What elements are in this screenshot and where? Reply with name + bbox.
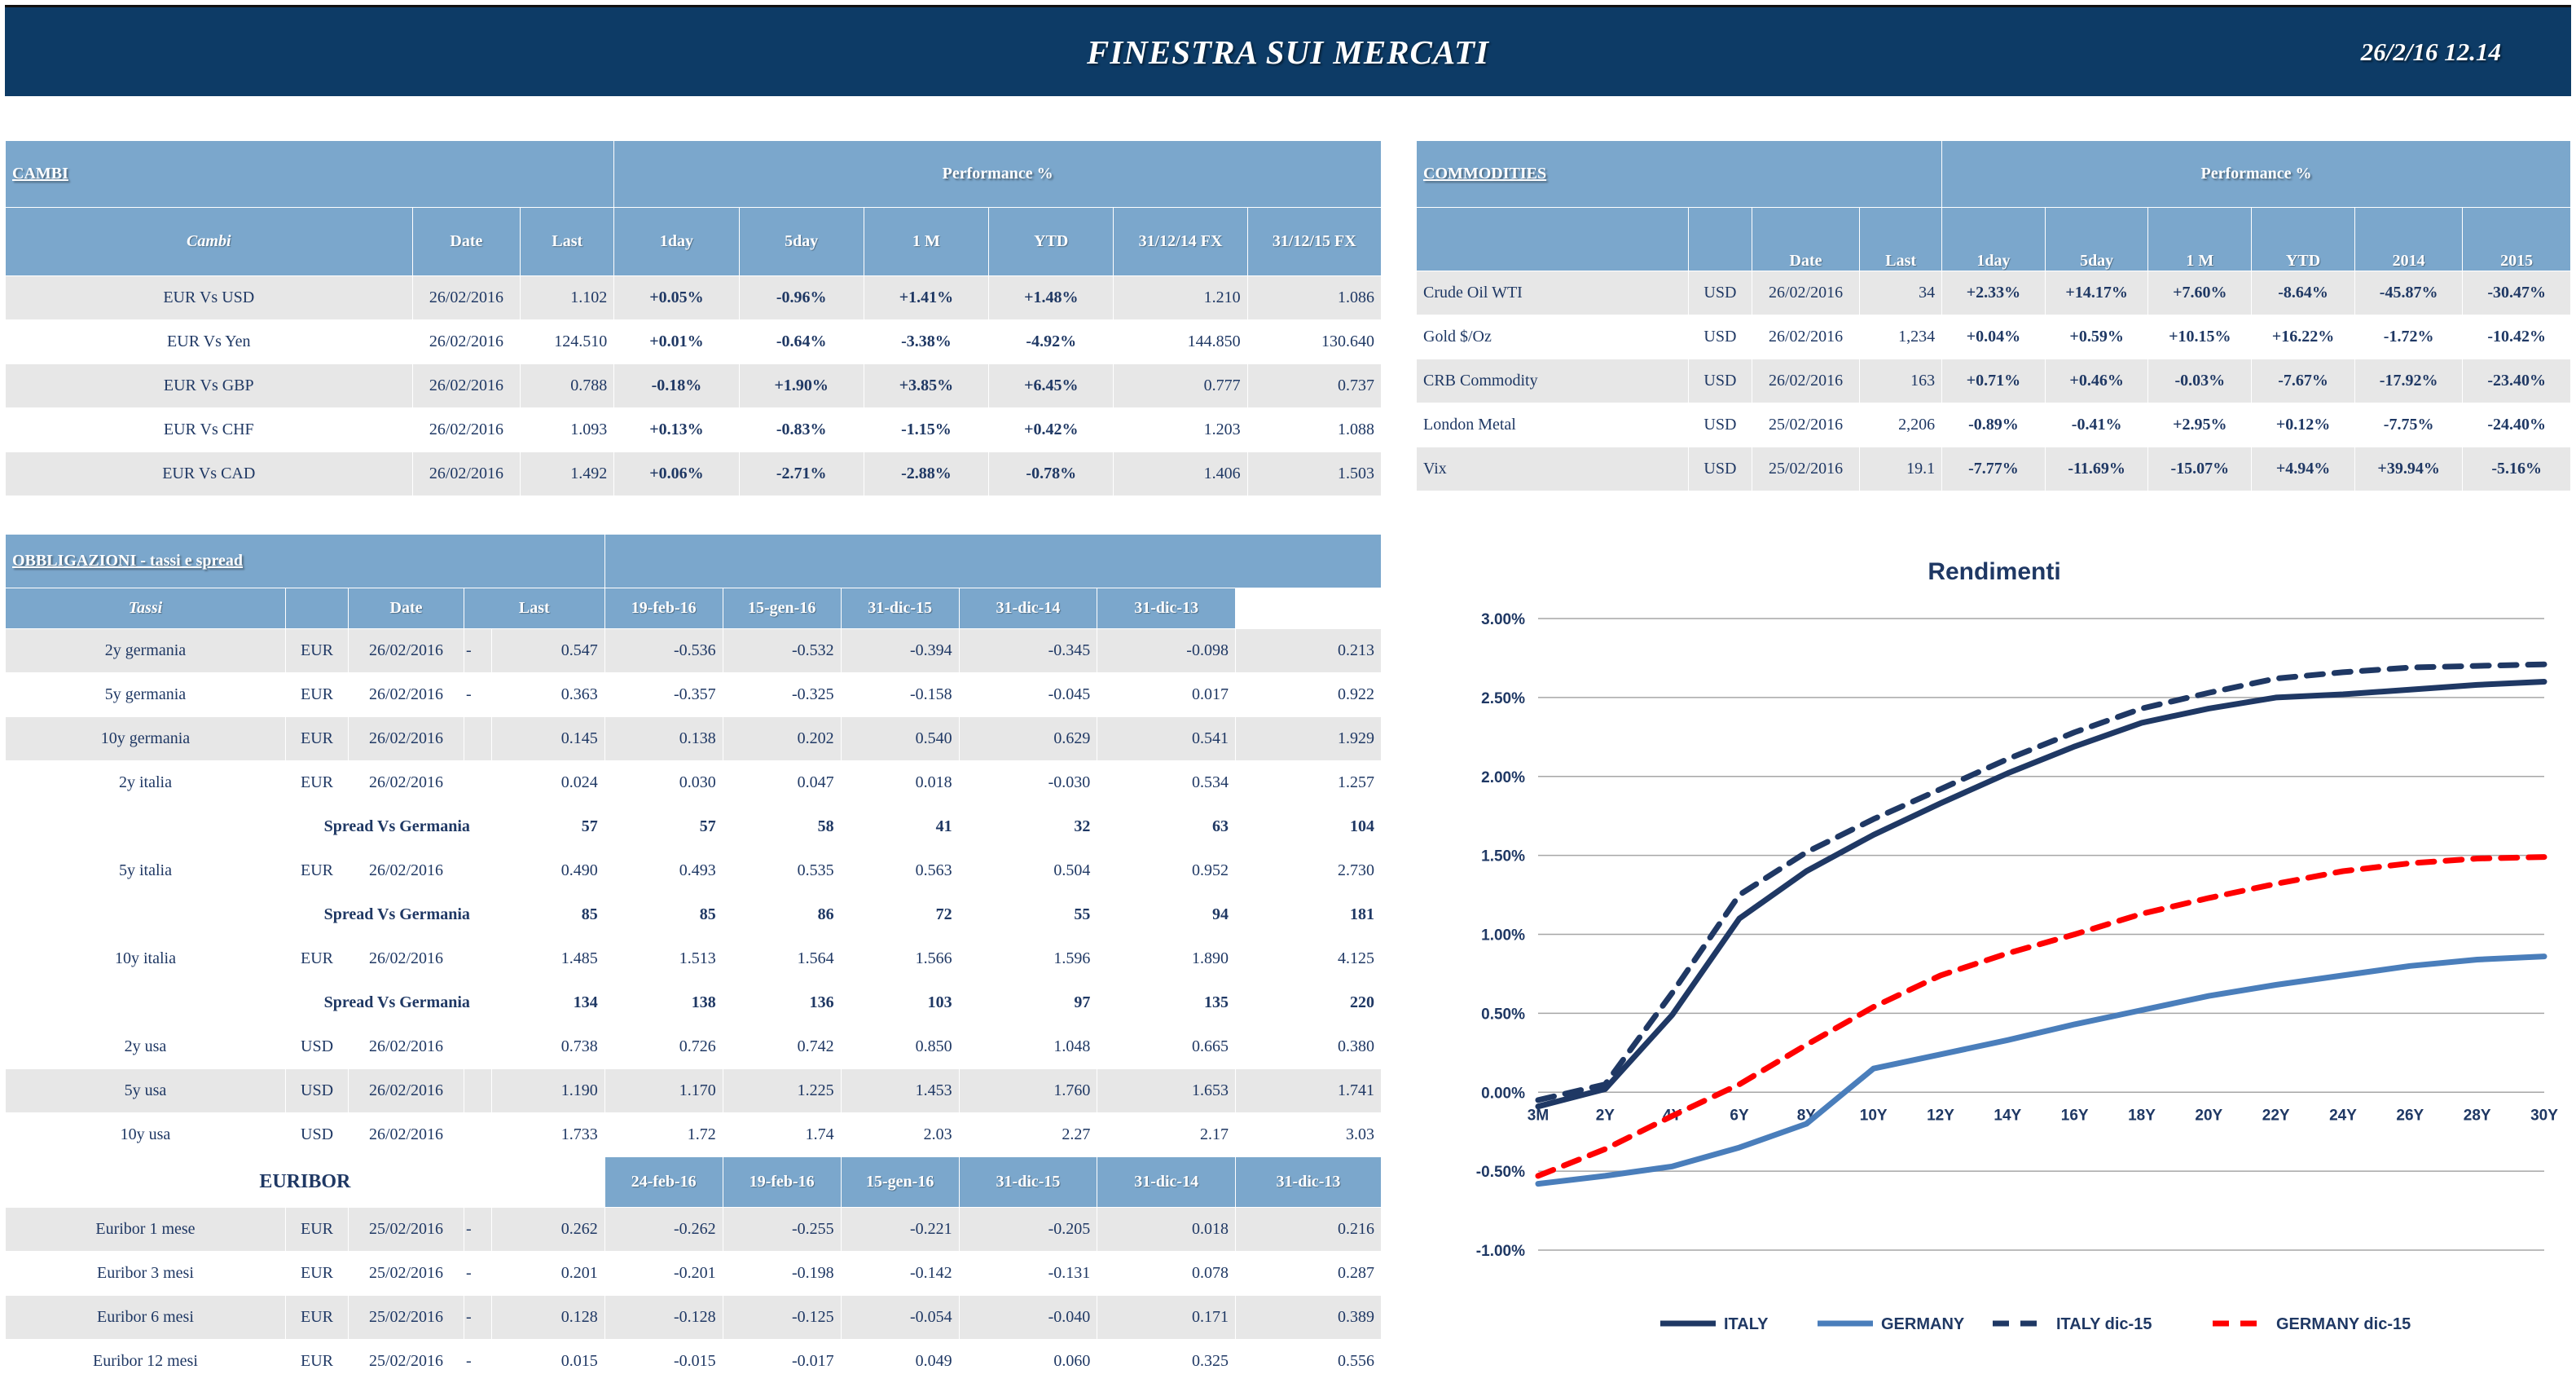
cambi-date: 26/02/2016 <box>412 276 521 320</box>
bond-hist-value: 0.047 <box>723 761 841 805</box>
commodity-perf-cell: -1.72% <box>2354 315 2462 359</box>
cambi-fx-2014: 144.850 <box>1114 320 1247 364</box>
bond-hist-value: -0.532 <box>723 629 841 673</box>
series-germany-dic-15 <box>1538 857 2544 1176</box>
cambi-date: 26/02/2016 <box>412 408 521 452</box>
bond-neg-sign <box>464 1025 491 1069</box>
obbligazioni-header-row: TassiDateLast19-feb-1615-gen-1631-dic-15… <box>6 588 1382 629</box>
cambi-col-header: 31/12/14 FX <box>1114 208 1247 276</box>
cambi-col-header: Last <box>521 208 614 276</box>
cambi-perf-cell: -0.64% <box>739 320 864 364</box>
bond-hist-value: 0.534 <box>1097 761 1236 805</box>
euribor-col-header: 31-dic-14 <box>1097 1157 1236 1208</box>
obbligazioni-col-header: 31-dic-13 <box>1097 588 1236 629</box>
bond-last: 1.733 <box>491 1113 604 1157</box>
yield-curve-chart: 3.00%2.50%2.00%1.50%1.00%0.50%0.00%-0.50… <box>1416 586 2573 1368</box>
euribor-date: 25/02/2016 <box>349 1340 464 1384</box>
x-axis-tick-label: 10Y <box>1860 1107 1888 1124</box>
bond-hist-value: -0.345 <box>959 629 1097 673</box>
bond-last: 0.145 <box>491 717 604 761</box>
commodity-date: 25/02/2016 <box>1752 447 1859 491</box>
commodity-name: Gold $/Oz <box>1417 315 1689 359</box>
bond-currency: EUR <box>285 673 348 717</box>
cambi-perf-cell: -2.88% <box>864 452 988 496</box>
cambi-perf-cell: +0.05% <box>614 276 739 320</box>
cambi-pair-name: EUR Vs CHF <box>6 408 413 452</box>
legend-label: GERMANY <box>1881 1315 1965 1333</box>
euribor-hist-value: 0.556 <box>1235 1340 1381 1384</box>
euribor-last: 0.128 <box>491 1296 604 1340</box>
euribor-name: Euribor 3 mesi <box>6 1252 286 1296</box>
bond-hist-value: 1.929 <box>1235 717 1381 761</box>
commodity-currency: USD <box>1689 315 1752 359</box>
euribor-last: 0.015 <box>491 1340 604 1384</box>
euribor-hist-value: 0.060 <box>959 1340 1097 1384</box>
obbligazioni-title: OBBLIGAZIONI - tassi e spread <box>6 535 605 588</box>
commodities-performance-header: Performance % <box>1942 141 2571 208</box>
commodity-perf-cell: +0.12% <box>2252 403 2355 447</box>
y-axis-tick-label: 2.50% <box>1481 690 1525 707</box>
commodities-col-header: YTD <box>2252 208 2355 271</box>
cambi-perf-cell: +0.06% <box>614 452 739 496</box>
commodities-header-row: DateLast1day5day1 MYTD20142015 <box>1417 208 2571 271</box>
table-row: 2y italiaEUR26/02/20160.0240.0300.0470.0… <box>6 761 1382 805</box>
spread-row: Spread Vs Germania13413813610397135220 <box>6 981 1382 1025</box>
bond-hist-value: 0.017 <box>1097 673 1236 717</box>
bond-hist-value: 1.741 <box>1235 1069 1381 1113</box>
bond-name: 2y usa <box>6 1025 286 1069</box>
bond-hist-value: 0.202 <box>723 717 841 761</box>
table-row: 2y germaniaEUR26/02/2016-0.547-0.536-0.5… <box>6 629 1382 673</box>
table-row: 10y germaniaEUR26/02/20160.1450.1380.202… <box>6 717 1382 761</box>
cambi-perf-cell: -0.78% <box>989 452 1114 496</box>
table-row: EUR Vs GBP26/02/20160.788-0.18%+1.90%+3.… <box>6 364 1382 408</box>
euribor-title: EURIBOR <box>6 1157 605 1208</box>
commodity-perf-cell: +0.46% <box>2045 359 2148 403</box>
bond-hist-value: 1.596 <box>959 937 1097 981</box>
x-axis-tick-label: 18Y <box>2128 1107 2156 1124</box>
euribor-hist-value: 0.078 <box>1097 1252 1236 1296</box>
cambi-perf-cell: -0.96% <box>739 276 864 320</box>
commodity-currency: USD <box>1689 271 1752 315</box>
commodity-perf-cell: +0.04% <box>1942 315 2046 359</box>
bond-neg-sign <box>464 849 491 893</box>
euribor-currency: EUR <box>285 1340 348 1384</box>
obbligazioni-col-header: Tassi <box>6 588 286 629</box>
cambi-fx-2014: 1.210 <box>1114 276 1247 320</box>
commodity-perf-cell: -11.69% <box>2045 447 2148 491</box>
cambi-perf-cell: +0.42% <box>989 408 1114 452</box>
spread-value: 220 <box>1235 981 1381 1025</box>
table-row: London MetalUSD25/02/20162,206-0.89%-0.4… <box>1417 403 2571 447</box>
spread-row: Spread Vs Germania858586725594181 <box>6 893 1382 937</box>
cambi-pair-name: EUR Vs Yen <box>6 320 413 364</box>
bond-hist-value: -0.357 <box>604 673 723 717</box>
commodities-col-header: 1 M <box>2148 208 2252 271</box>
commodity-date: 26/02/2016 <box>1752 359 1859 403</box>
obbligazioni-title-row: OBBLIGAZIONI - tassi e spread <box>6 535 1382 588</box>
bond-hist-value: 0.850 <box>841 1025 959 1069</box>
bond-hist-value: 0.380 <box>1235 1025 1381 1069</box>
commodity-date: 26/02/2016 <box>1752 315 1859 359</box>
commodity-perf-cell: -0.41% <box>2045 403 2148 447</box>
commodity-perf-cell: +0.71% <box>1942 359 2046 403</box>
euribor-hist-value: -0.201 <box>604 1252 723 1296</box>
euribor-currency: EUR <box>285 1296 348 1340</box>
commodity-currency: USD <box>1689 403 1752 447</box>
bond-hist-value: 0.742 <box>723 1025 841 1069</box>
bond-last: 0.547 <box>491 629 604 673</box>
spread-value: 57 <box>604 805 723 849</box>
euribor-hist-value: -0.015 <box>604 1340 723 1384</box>
commodity-perf-cell: +7.60% <box>2148 271 2252 315</box>
cambi-pair-name: EUR Vs USD <box>6 276 413 320</box>
euribor-col-header: 31-dic-13 <box>1235 1157 1381 1208</box>
table-row: VixUSD25/02/201619.1-7.77%-11.69%-15.07%… <box>1417 447 2571 491</box>
commodity-perf-cell: +4.94% <box>2252 447 2355 491</box>
bond-hist-value: 4.125 <box>1235 937 1381 981</box>
commodities-table: COMMODITIESPerformance %DateLast1day5day… <box>1416 140 2571 491</box>
cambi-performance-header: Performance % <box>614 141 1382 208</box>
euribor-hist-value: -0.054 <box>841 1296 959 1340</box>
obbligazioni-col-header: Date <box>349 588 464 629</box>
cambi-col-header: 31/12/15 FX <box>1247 208 1381 276</box>
bond-hist-value: -0.536 <box>604 629 723 673</box>
chart-title: Rendimenti <box>1416 558 2573 586</box>
euribor-hist-value: -0.125 <box>723 1296 841 1340</box>
commodity-currency: USD <box>1689 447 1752 491</box>
commodity-perf-cell: -7.75% <box>2354 403 2462 447</box>
bond-last: 0.024 <box>491 761 604 805</box>
euribor-name: Euribor 1 mese <box>6 1208 286 1252</box>
timestamp: 26/2/16 12.14 <box>2361 37 2501 67</box>
y-axis-tick-label: -1.00% <box>1476 1243 1525 1260</box>
bond-hist-value: 2.17 <box>1097 1113 1236 1157</box>
euribor-header-row: EURIBOR24-feb-1619-feb-1615-gen-1631-dic… <box>6 1157 1382 1208</box>
bond-hist-value: 0.018 <box>841 761 959 805</box>
commodity-name: Vix <box>1417 447 1689 491</box>
bond-hist-value: 0.726 <box>604 1025 723 1069</box>
x-axis-tick-label: 28Y <box>2464 1107 2491 1124</box>
y-axis-tick-label: 1.00% <box>1481 927 1525 945</box>
bond-hist-value: 1.890 <box>1097 937 1236 981</box>
euribor-hist-value: -0.017 <box>723 1340 841 1384</box>
x-axis-tick-label: 24Y <box>2329 1107 2357 1124</box>
x-axis-tick-label: 12Y <box>1927 1107 1954 1124</box>
euribor-currency: EUR <box>285 1252 348 1296</box>
bond-currency: EUR <box>285 629 348 673</box>
euribor-hist-value: -0.128 <box>604 1296 723 1340</box>
bond-hist-value: 2.03 <box>841 1113 959 1157</box>
bond-date: 26/02/2016 <box>349 1025 464 1069</box>
bond-date: 26/02/2016 <box>349 761 464 805</box>
bond-hist-value: -0.030 <box>959 761 1097 805</box>
euribor-date: 25/02/2016 <box>349 1252 464 1296</box>
spread-value: 136 <box>723 981 841 1025</box>
bond-date: 26/02/2016 <box>349 717 464 761</box>
obbligazioni-col-header: 19-feb-16 <box>604 588 723 629</box>
cambi-perf-cell: -4.92% <box>989 320 1114 364</box>
obbligazioni-panel: OBBLIGAZIONI - tassi e spreadTassiDateLa… <box>5 534 1382 1384</box>
commodity-perf-cell: -7.77% <box>1942 447 2046 491</box>
bond-hist-value: 2.27 <box>959 1113 1097 1157</box>
header-divider <box>1382 99 1383 102</box>
bond-hist-value: 0.535 <box>723 849 841 893</box>
commodity-currency: USD <box>1689 359 1752 403</box>
bond-currency: EUR <box>285 717 348 761</box>
euribor-hist-value: 0.018 <box>1097 1208 1236 1252</box>
euribor-neg-sign: - <box>464 1252 491 1296</box>
cambi-fx-2015: 1.503 <box>1247 452 1381 496</box>
bond-currency: USD <box>285 1025 348 1069</box>
bond-hist-value: 0.138 <box>604 717 723 761</box>
spread-value: 103 <box>841 981 959 1025</box>
commodity-last: 19.1 <box>1860 447 1942 491</box>
euribor-hist-value: -0.205 <box>959 1208 1097 1252</box>
euribor-neg-sign: - <box>464 1208 491 1252</box>
bond-hist-value: 1.564 <box>723 937 841 981</box>
bond-hist-value: 1.513 <box>604 937 723 981</box>
spread-value: 63 <box>1097 805 1236 849</box>
bond-name: 5y germania <box>6 673 286 717</box>
table-row: EUR Vs Yen26/02/2016124.510+0.01%-0.64%-… <box>6 320 1382 364</box>
bond-hist-value: 0.030 <box>604 761 723 805</box>
commodities-col-header: 5day <box>2045 208 2148 271</box>
euribor-hist-value: 0.216 <box>1235 1208 1381 1252</box>
bond-currency: EUR <box>285 849 348 893</box>
cambi-col-header: Cambi <box>6 208 413 276</box>
bond-last: 1.190 <box>491 1069 604 1113</box>
cambi-perf-cell: -1.15% <box>864 408 988 452</box>
commodity-perf-cell: -0.03% <box>2148 359 2252 403</box>
commodity-perf-cell: +39.94% <box>2354 447 2462 491</box>
y-axis-tick-label: 0.50% <box>1481 1006 1525 1023</box>
bond-neg-sign <box>464 1113 491 1157</box>
bond-last: 0.738 <box>491 1025 604 1069</box>
bond-currency: EUR <box>285 937 348 981</box>
commodities-title: COMMODITIES <box>1417 141 1942 208</box>
bond-hist-value: -0.098 <box>1097 629 1236 673</box>
table-row: 5y italiaEUR26/02/20160.4900.4930.5350.5… <box>6 849 1382 893</box>
bond-hist-value: 1.653 <box>1097 1069 1236 1113</box>
euribor-last: 0.262 <box>491 1208 604 1252</box>
bond-hist-value: 0.563 <box>841 849 959 893</box>
bond-date: 26/02/2016 <box>349 673 464 717</box>
cambi-last: 0.788 <box>521 364 614 408</box>
bond-neg-sign <box>464 717 491 761</box>
bond-currency: USD <box>285 1069 348 1113</box>
euribor-name: Euribor 6 mesi <box>6 1296 286 1340</box>
table-row: 10y usaUSD26/02/20161.7331.721.742.032.2… <box>6 1113 1382 1157</box>
cambi-title: CAMBI <box>6 141 614 208</box>
euribor-col-header: 24-feb-16 <box>604 1157 723 1208</box>
commodity-perf-cell: -30.47% <box>2463 271 2571 315</box>
commodities-col-header: Last <box>1860 208 1942 271</box>
legend-label: GERMANY dic-15 <box>2276 1315 2411 1333</box>
cambi-col-header: 5day <box>739 208 864 276</box>
bond-hist-value: 0.540 <box>841 717 959 761</box>
y-axis-tick-label: 2.00% <box>1481 769 1525 786</box>
page-title: FINESTRA SUI MERCATI <box>5 33 2571 72</box>
y-axis-tick-label: -0.50% <box>1476 1164 1525 1181</box>
spread-value: 181 <box>1235 893 1381 937</box>
obbligazioni-col-header: Last <box>464 588 604 629</box>
bond-hist-value: 0.493 <box>604 849 723 893</box>
euribor-hist-value: 0.325 <box>1097 1340 1236 1384</box>
app-header: FINESTRA SUI MERCATI 26/2/16 12.14 <box>5 5 2571 96</box>
x-axis-tick-label: 6Y <box>1730 1107 1749 1124</box>
legend-label: ITALY <box>1724 1315 1769 1333</box>
bond-hist-value: 0.665 <box>1097 1025 1236 1069</box>
spread-label: Spread Vs Germania <box>6 893 492 937</box>
spread-label: Spread Vs Germania <box>6 981 492 1025</box>
table-row: Euribor 6 mesiEUR25/02/2016-0.128-0.128-… <box>6 1296 1382 1340</box>
bond-hist-value: 0.629 <box>959 717 1097 761</box>
table-row: EUR Vs USD26/02/20161.102+0.05%-0.96%+1.… <box>6 276 1382 320</box>
x-axis-tick-label: 20Y <box>2195 1107 2222 1124</box>
euribor-hist-value: 0.287 <box>1235 1252 1381 1296</box>
commodity-perf-cell: -15.07% <box>2148 447 2252 491</box>
euribor-hist-value: -0.255 <box>723 1208 841 1252</box>
bond-hist-value: 2.730 <box>1235 849 1381 893</box>
cambi-fx-2015: 0.737 <box>1247 364 1381 408</box>
x-axis-tick-label: 30Y <box>2530 1107 2558 1124</box>
cambi-col-header: Date <box>412 208 521 276</box>
bond-last: 0.490 <box>491 849 604 893</box>
spread-value: 58 <box>723 805 841 849</box>
x-axis-tick-label: 16Y <box>2061 1107 2089 1124</box>
cambi-fx-2014: 1.406 <box>1114 452 1247 496</box>
table-row: Euribor 3 mesiEUR25/02/2016-0.201-0.201-… <box>6 1252 1382 1296</box>
commodity-perf-cell: -17.92% <box>2354 359 2462 403</box>
commodities-col-header: Date <box>1752 208 1859 271</box>
bond-hist-value: 1.74 <box>723 1113 841 1157</box>
euribor-hist-value: -0.262 <box>604 1208 723 1252</box>
euribor-neg-sign: - <box>464 1340 491 1384</box>
commodities-col-header <box>1417 208 1689 271</box>
cambi-date: 26/02/2016 <box>412 452 521 496</box>
commodities-col-header: 2014 <box>2354 208 2462 271</box>
obbligazioni-col-header: 31-dic-15 <box>841 588 959 629</box>
bond-date: 26/02/2016 <box>349 849 464 893</box>
commodity-perf-cell: +2.33% <box>1942 271 2046 315</box>
commodities-col-header <box>1689 208 1752 271</box>
cambi-last: 1.102 <box>521 276 614 320</box>
cambi-perf-cell: -0.18% <box>614 364 739 408</box>
bond-hist-value: 1.257 <box>1235 761 1381 805</box>
bond-currency: EUR <box>285 761 348 805</box>
cambi-last: 124.510 <box>521 320 614 364</box>
spread-last: 85 <box>491 893 604 937</box>
commodity-perf-cell: -8.64% <box>2252 271 2355 315</box>
cambi-pair-name: EUR Vs GBP <box>6 364 413 408</box>
table-row: Gold $/OzUSD26/02/20161,234+0.04%+0.59%+… <box>1417 315 2571 359</box>
x-axis-tick-label: 3M <box>1528 1107 1549 1124</box>
obbligazioni-col-header: 15-gen-16 <box>723 588 841 629</box>
bond-neg-sign <box>464 937 491 981</box>
commodity-perf-cell: -23.40% <box>2463 359 2571 403</box>
bond-name: 10y italia <box>6 937 286 981</box>
euribor-hist-value: -0.198 <box>723 1252 841 1296</box>
spread-value: 138 <box>604 981 723 1025</box>
cambi-perf-cell: +0.01% <box>614 320 739 364</box>
table-row: EUR Vs CHF26/02/20161.093+0.13%-0.83%-1.… <box>6 408 1382 452</box>
y-axis-tick-label: 0.00% <box>1481 1085 1525 1102</box>
bond-neg-sign: - <box>464 629 491 673</box>
spread-value: 85 <box>604 893 723 937</box>
y-axis-tick-label: 1.50% <box>1481 848 1525 865</box>
table-row: 5y usaUSD26/02/20161.1901.1701.2251.4531… <box>6 1069 1382 1113</box>
euribor-col-header: 15-gen-16 <box>841 1157 959 1208</box>
commodities-col-header: 2015 <box>2463 208 2571 271</box>
spread-last: 134 <box>491 981 604 1025</box>
bond-name: 2y germania <box>6 629 286 673</box>
commodity-name: Crude Oil WTI <box>1417 271 1689 315</box>
table-row: Euribor 1 meseEUR25/02/2016-0.262-0.262-… <box>6 1208 1382 1252</box>
cambi-col-header: YTD <box>989 208 1114 276</box>
bond-date: 26/02/2016 <box>349 1113 464 1157</box>
x-axis-tick-label: 22Y <box>2262 1107 2290 1124</box>
bond-neg-sign <box>464 1069 491 1113</box>
commodity-perf-cell: +2.95% <box>2148 403 2252 447</box>
commodities-title-row: COMMODITIESPerformance % <box>1417 141 2571 208</box>
bond-date: 26/02/2016 <box>349 629 464 673</box>
table-row: 10y italiaEUR26/02/20161.4851.5131.5641.… <box>6 937 1382 981</box>
bond-name: 10y usa <box>6 1113 286 1157</box>
spread-value: 41 <box>841 805 959 849</box>
table-row: EUR Vs CAD26/02/20161.492+0.06%-2.71%-2.… <box>6 452 1382 496</box>
cambi-perf-cell: +1.90% <box>739 364 864 408</box>
commodity-name: London Metal <box>1417 403 1689 447</box>
euribor-date: 25/02/2016 <box>349 1208 464 1252</box>
spread-value: 72 <box>841 893 959 937</box>
euribor-hist-value: -0.131 <box>959 1252 1097 1296</box>
bond-hist-value: 1.72 <box>604 1113 723 1157</box>
bond-hist-value: 0.504 <box>959 849 1097 893</box>
commodity-date: 26/02/2016 <box>1752 271 1859 315</box>
commodity-last: 163 <box>1860 359 1942 403</box>
bond-hist-value: -0.045 <box>959 673 1097 717</box>
euribor-neg-sign: - <box>464 1296 491 1340</box>
obbligazioni-table: OBBLIGAZIONI - tassi e spreadTassiDateLa… <box>5 534 1382 1384</box>
euribor-currency: EUR <box>285 1208 348 1252</box>
commodities-panel: COMMODITIESPerformance %DateLast1day5day… <box>1416 140 2571 491</box>
commodity-date: 25/02/2016 <box>1752 403 1859 447</box>
table-row: CRB CommodityUSD26/02/2016163+0.71%+0.46… <box>1417 359 2571 403</box>
x-axis-tick-label: 2Y <box>1596 1107 1615 1124</box>
commodity-perf-cell: +10.15% <box>2148 315 2252 359</box>
x-axis-tick-label: 26Y <box>2396 1107 2424 1124</box>
y-axis-tick-label: 3.00% <box>1481 611 1525 628</box>
commodities-col-header: 1day <box>1942 208 2046 271</box>
bond-hist-value: 0.922 <box>1235 673 1381 717</box>
cambi-date: 26/02/2016 <box>412 320 521 364</box>
commodity-perf-cell: +0.59% <box>2045 315 2148 359</box>
spread-value: 32 <box>959 805 1097 849</box>
cambi-perf-cell: -0.83% <box>739 408 864 452</box>
table-row: Euribor 12 mesiEUR25/02/2016-0.015-0.015… <box>6 1340 1382 1384</box>
commodity-name: CRB Commodity <box>1417 359 1689 403</box>
commodity-perf-cell: -5.16% <box>2463 447 2571 491</box>
bond-last: 0.363 <box>491 673 604 717</box>
euribor-hist-value: 0.171 <box>1097 1296 1236 1340</box>
cambi-title-row: CAMBIPerformance % <box>6 141 1382 208</box>
cambi-table: CAMBIPerformance %CambiDateLast1day5day1… <box>5 140 1382 496</box>
bond-date: 26/02/2016 <box>349 937 464 981</box>
bond-hist-value: -0.394 <box>841 629 959 673</box>
euribor-hist-value: 0.049 <box>841 1340 959 1384</box>
legend-label: ITALY dic-15 <box>2056 1315 2152 1333</box>
